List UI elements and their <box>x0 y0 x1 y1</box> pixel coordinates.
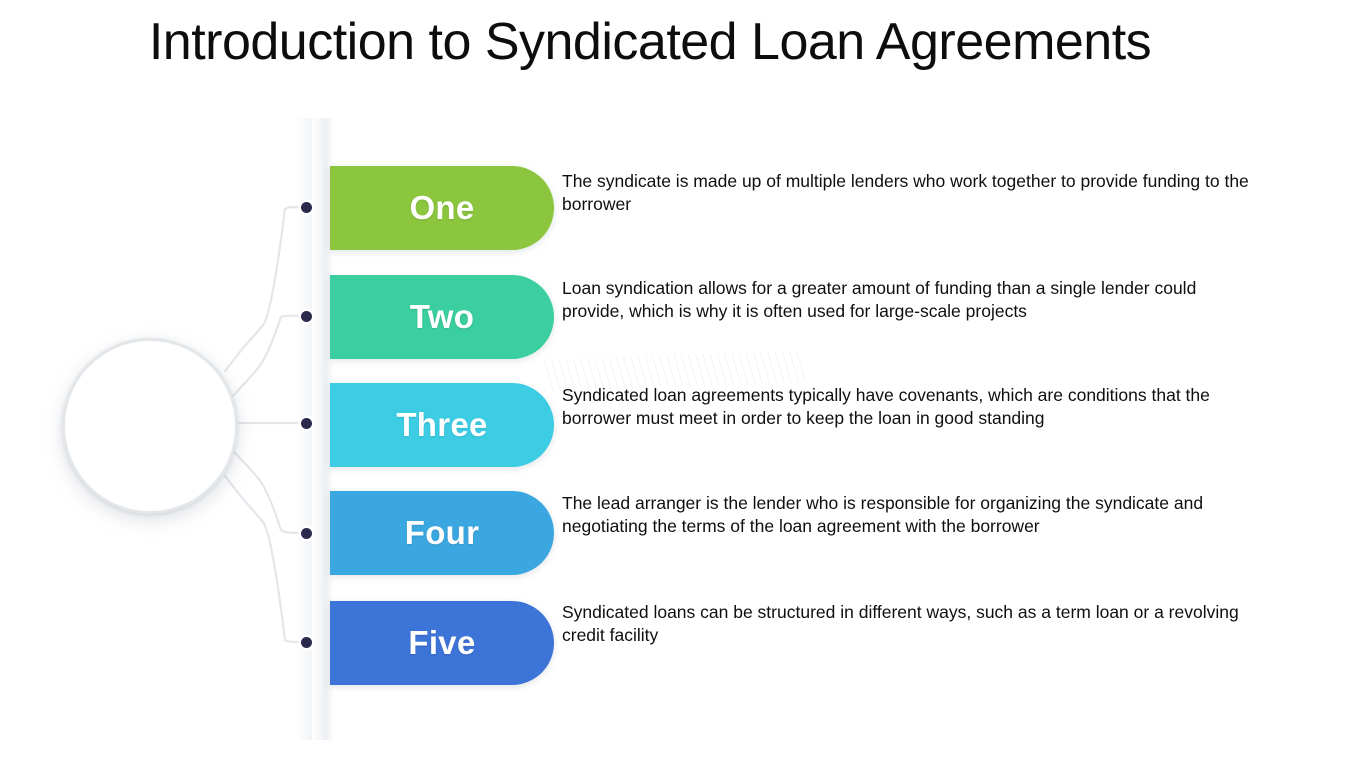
step-description: Loan syndication allows for a greater am… <box>562 277 1262 322</box>
step-description: Syndicated loans can be structured in di… <box>562 601 1252 646</box>
step-label: Five <box>408 624 475 662</box>
step-label: One <box>409 189 474 227</box>
center-hub-circle <box>62 338 238 514</box>
step-pill-one[interactable]: One <box>330 166 554 250</box>
node-dot-two <box>301 311 312 322</box>
slide: Introduction to Syndicated Loan Agreemen… <box>0 0 1350 759</box>
step-pill-two[interactable]: Two <box>330 275 554 359</box>
step-description: The syndicate is made up of multiple len… <box>562 170 1252 215</box>
node-dot-five <box>301 637 312 648</box>
node-dot-three <box>301 418 312 429</box>
step-description: The lead arranger is the lender who is r… <box>562 492 1262 537</box>
step-label: Two <box>410 298 474 336</box>
step-pill-three[interactable]: Three <box>330 383 554 467</box>
node-dot-one <box>301 202 312 213</box>
step-pill-five[interactable]: Five <box>330 601 554 685</box>
step-label: Three <box>396 406 487 444</box>
process-diagram: One The syndicate is made up of multiple… <box>0 0 1350 759</box>
node-dot-four <box>301 528 312 539</box>
step-description: Syndicated loan agreements typically hav… <box>562 384 1277 429</box>
step-pill-four[interactable]: Four <box>330 491 554 575</box>
step-label: Four <box>405 514 480 552</box>
